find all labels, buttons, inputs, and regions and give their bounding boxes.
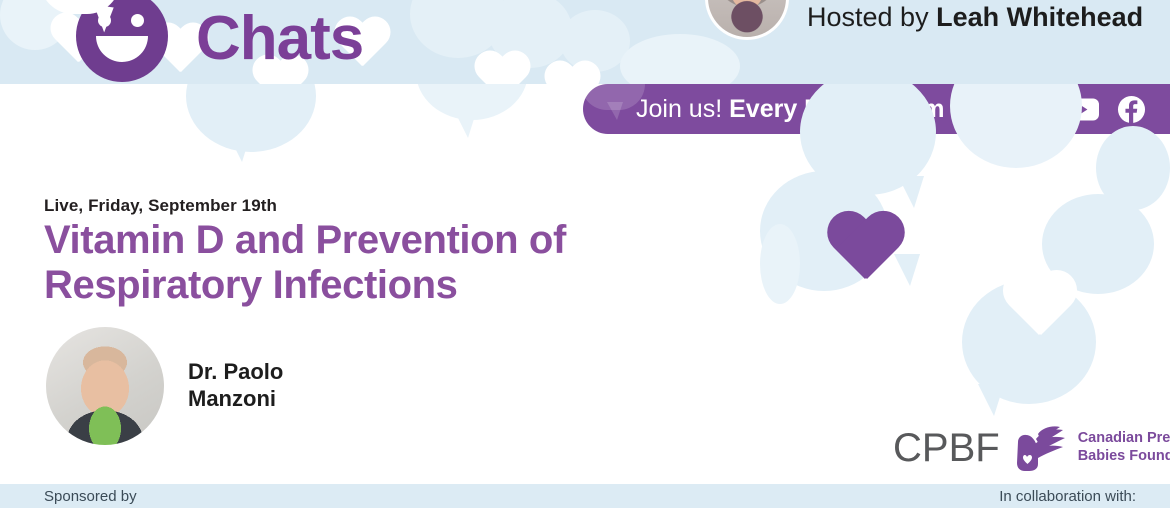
brand-wordmark: Preemie Chats bbox=[196, 0, 430, 70]
page-title-line1: Vitamin D and Prevention of bbox=[44, 218, 566, 263]
decorative-heart bbox=[542, 62, 602, 84]
speaker-block: Dr. Paolo Manzoni bbox=[46, 327, 283, 445]
decorative-heart-purple bbox=[824, 213, 906, 287]
decorative-bubble bbox=[620, 34, 740, 84]
brand-wordmark-line2: Chats bbox=[196, 9, 430, 70]
speaker-name: Dr. Paolo Manzoni bbox=[188, 359, 283, 413]
cpbf-name-line2: Babies Foundation bbox=[1078, 448, 1170, 466]
sponsored-by-label: Sponsored by bbox=[44, 488, 137, 505]
hands-icon bbox=[1008, 424, 1070, 472]
cpbf-name-line1: Canadian Premature bbox=[1078, 430, 1170, 448]
decorative-bubble-tail bbox=[898, 176, 924, 208]
header-band: Preemie Chats Hosted by Leah Whitehead bbox=[0, 0, 1170, 84]
host-credit: Hosted by Leah Whitehead bbox=[705, 0, 1143, 40]
footer-bar: Sponsored by In collaboration with: bbox=[0, 484, 1170, 508]
event-date-eyebrow: Live, Friday, September 19th bbox=[44, 196, 277, 216]
preemie-chats-logo-icon bbox=[58, 0, 188, 84]
speech-bubble-tail bbox=[90, 5, 113, 34]
decorative-heart-white bbox=[1000, 272, 1078, 342]
smiley-mouth bbox=[96, 36, 148, 62]
collaboration-label: In collaboration with: bbox=[999, 488, 1136, 505]
cpbf-logo: CPBF Canadian Premature Babies Foundatio… bbox=[893, 424, 1170, 472]
host-prefix: Hosted by bbox=[807, 2, 936, 32]
host-name: Leah Whitehead bbox=[936, 2, 1143, 32]
cpbf-acronym: CPBF bbox=[893, 428, 1000, 468]
preemie-chats-event-poster: Preemie Chats Hosted by Leah Whitehead J… bbox=[0, 0, 1170, 508]
decorative-bubble bbox=[950, 84, 1082, 168]
decorative-bubble-tail bbox=[226, 130, 252, 162]
decorative-heart bbox=[472, 52, 532, 84]
page-title: Vitamin D and Prevention of Respiratory … bbox=[44, 218, 566, 308]
host-avatar bbox=[705, 0, 789, 40]
smiley-eye-right bbox=[131, 14, 144, 27]
speaker-name-line1: Dr. Paolo bbox=[188, 359, 283, 386]
speaker-name-line2: Manzoni bbox=[188, 386, 283, 413]
decorative-bubble-tail bbox=[452, 106, 478, 138]
host-label: Hosted by Leah Whitehead bbox=[807, 0, 1143, 33]
speaker-photo bbox=[46, 327, 164, 445]
decorative-bubble-tail bbox=[978, 384, 1004, 416]
cpbf-full-name: Canadian Premature Babies Foundation bbox=[1078, 430, 1170, 465]
page-title-line2: Respiratory Infections bbox=[44, 263, 566, 308]
decorative-bubble bbox=[760, 224, 800, 304]
